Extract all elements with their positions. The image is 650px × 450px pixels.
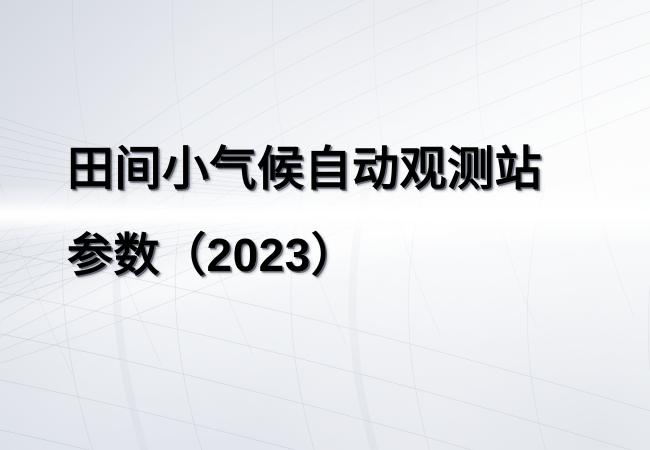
title-line-2: 参数（2023） (67, 212, 607, 298)
title-line-1: 田间小气候自动观测站 (67, 126, 607, 212)
title-slide: 田间小气候自动观测站 参数（2023） (0, 0, 650, 450)
page-title: 田间小气候自动观测站 参数（2023） (67, 126, 607, 298)
